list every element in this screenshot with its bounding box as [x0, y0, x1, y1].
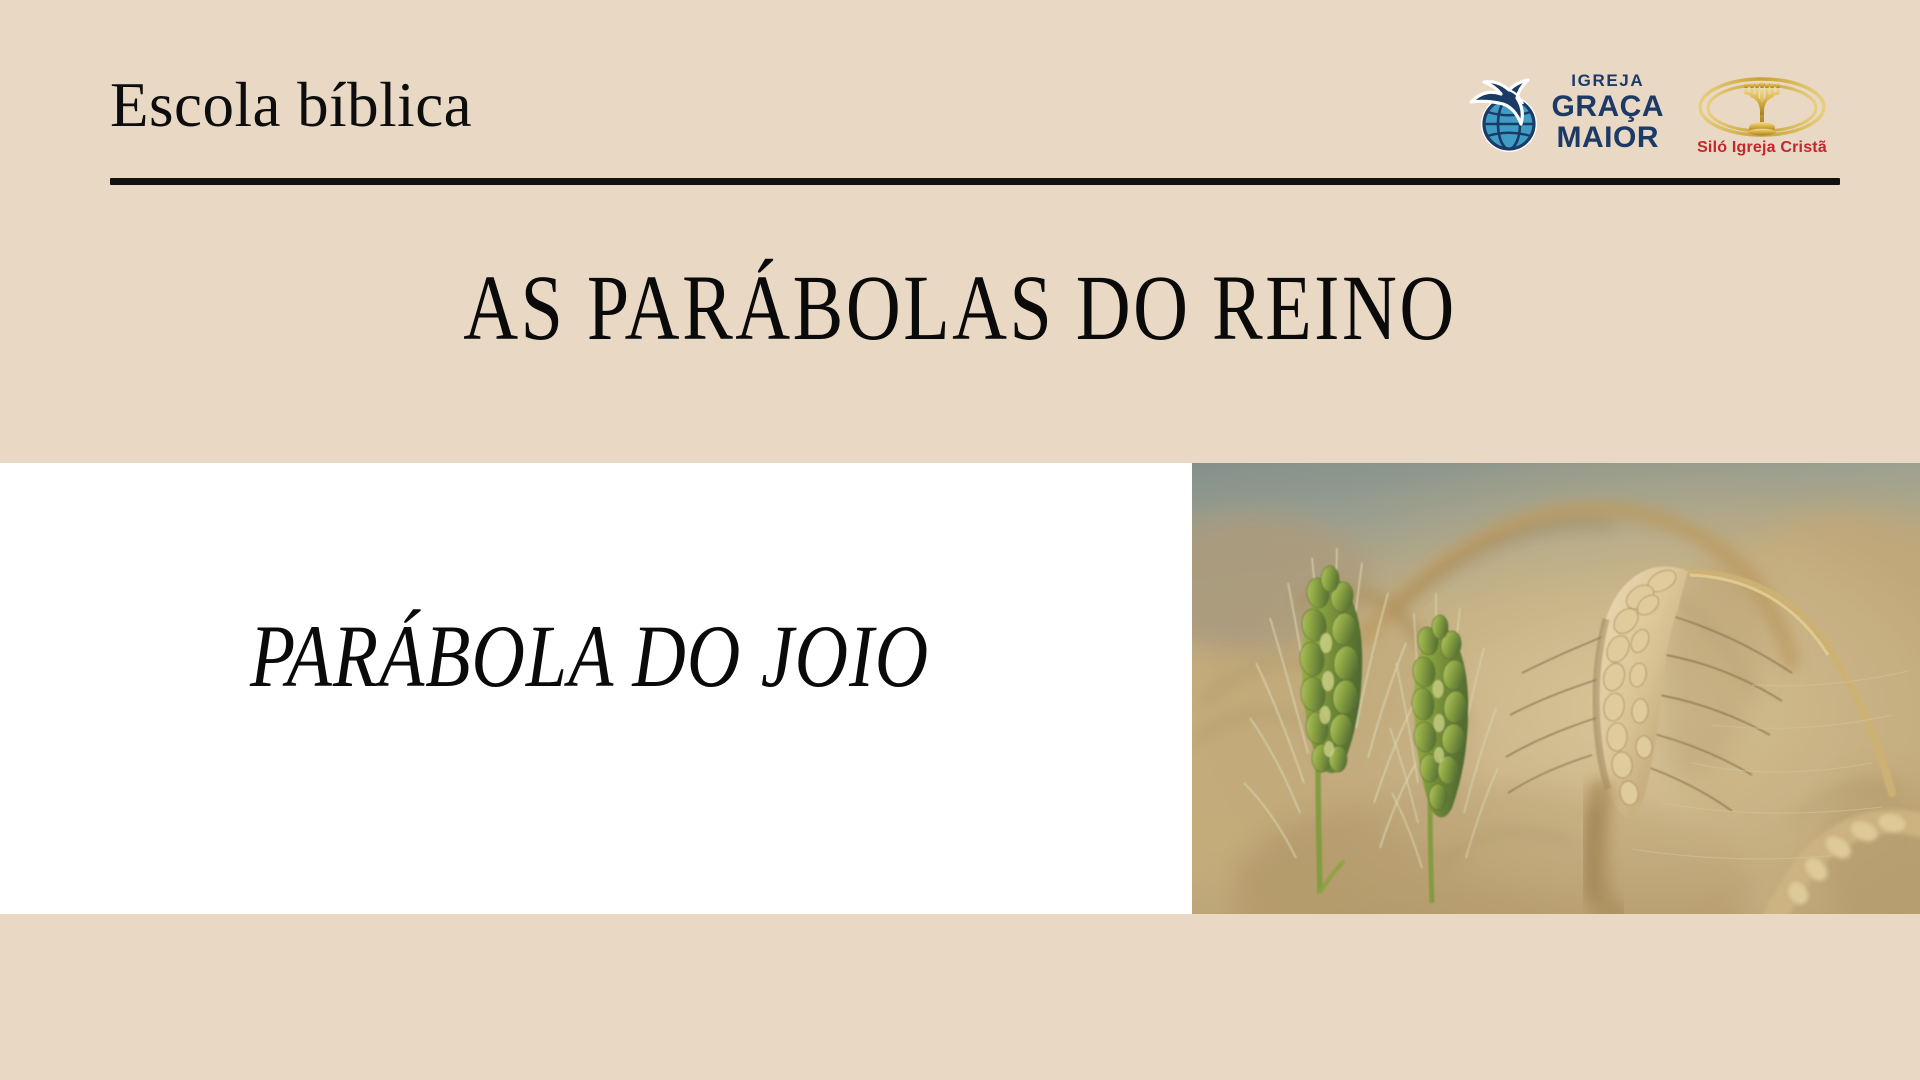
- logo-line-igreja: IGREJA: [1571, 72, 1644, 89]
- logo-group: IGREJA GRAÇA MAIOR: [1465, 62, 1843, 162]
- content-band: PARÁBOLA DO JOIO: [0, 463, 1920, 914]
- header-title: Escola bíblica: [110, 74, 472, 137]
- logo-silo-igreja-crista: Siló Igreja Cristã: [1682, 62, 1842, 162]
- wheat-field-photo: [1192, 463, 1920, 914]
- menorah-icon: [1684, 67, 1840, 143]
- presentation-slide: Escola bíblica: [0, 0, 1920, 1080]
- dove-globe-icon: [1465, 68, 1547, 156]
- white-content-panel: PARÁBOLA DO JOIO: [0, 463, 1192, 914]
- logo-line-graca: GRAÇA: [1552, 92, 1665, 122]
- wheat-photo-illustration: [1192, 463, 1920, 914]
- slide-subtitle: PARÁBOLA DO JOIO: [250, 613, 929, 702]
- logo-igreja-graca-maior: IGREJA GRAÇA MAIOR: [1465, 62, 1665, 162]
- slide-header: Escola bíblica: [0, 0, 1920, 200]
- logo-line-maior: MAIOR: [1557, 123, 1660, 153]
- logo-silo-caption: Siló Igreja Cristã: [1697, 139, 1827, 157]
- header-divider-rule: [110, 178, 1840, 185]
- page-title: AS PARÁBOLAS DO REINO: [0, 262, 1920, 355]
- logo-graca-wordmark: IGREJA GRAÇA MAIOR: [1552, 72, 1665, 153]
